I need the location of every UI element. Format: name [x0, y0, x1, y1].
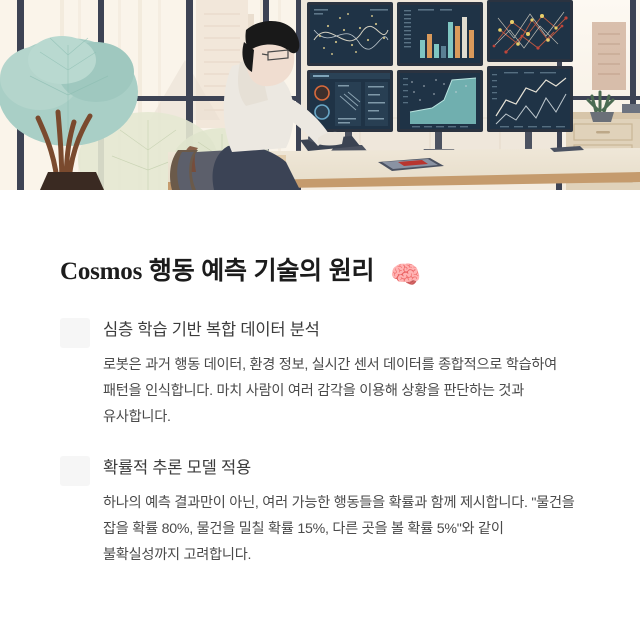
- section-marker-block: [60, 318, 90, 348]
- section-title: 확률적 추론 모델 적용: [103, 455, 251, 481]
- hero-scene-graphic: [0, 0, 640, 190]
- monitor-6: [487, 66, 573, 132]
- section-probabilistic-inference: 확률적 추론 모델 적용 하나의 예측 결과만이 아닌, 여러 가능한 행동들을…: [60, 455, 580, 569]
- page-title: Cosmos 행동 예측 기술의 원리 🧠: [60, 190, 580, 293]
- page-title-korean: 행동 예측 기술의 원리: [149, 257, 374, 285]
- section-marker-block: [60, 456, 90, 486]
- page-title-latin: Cosmos: [60, 258, 142, 285]
- section-heading-row: 심층 학습 기반 복합 데이터 분석: [60, 317, 580, 348]
- section-title: 심층 학습 기반 복합 데이터 분석: [103, 317, 320, 343]
- section-body-text: 하나의 예측 결과만이 아닌, 여러 가능한 행동들을 확률과 함께 제시합니다…: [103, 490, 580, 569]
- section-body-text: 로봇은 과거 행동 데이터, 환경 정보, 실시간 센서 데이터를 종합적으로 …: [103, 352, 580, 431]
- section-deep-learning-analysis: 심층 학습 기반 복합 데이터 분석 로봇은 과거 행동 데이터, 환경 정보,…: [60, 317, 580, 431]
- monitor-5: [397, 70, 483, 132]
- monitor-3: [487, 0, 573, 62]
- section-heading-row: 확률적 추론 모델 적용: [60, 455, 580, 486]
- monitor-1: [307, 2, 393, 66]
- hero-illustration: [0, 0, 640, 190]
- article-content: Cosmos 행동 예측 기술의 원리 🧠 심층 학습 기반 복합 데이터 분석…: [0, 190, 640, 568]
- brain-icon: 🧠: [390, 259, 421, 293]
- monitor-2: [397, 2, 483, 66]
